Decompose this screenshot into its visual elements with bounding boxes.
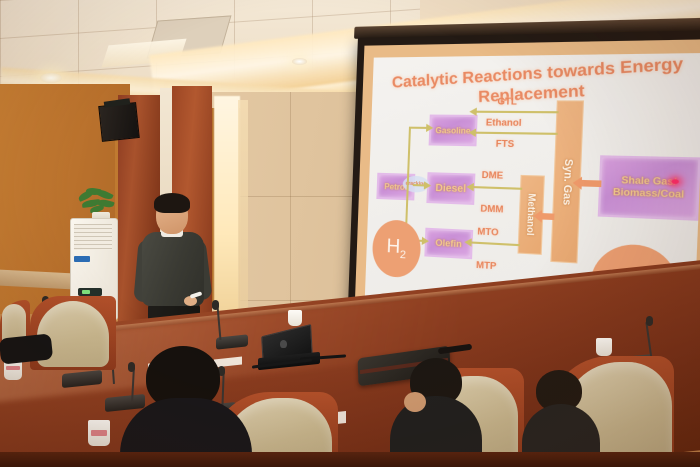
arrow-to-gasoline	[409, 127, 427, 129]
air-conditioner-badge	[74, 256, 90, 262]
audience-member-right	[396, 358, 486, 467]
label-dmm: DMM	[480, 203, 503, 214]
audience-hand	[404, 392, 426, 412]
table-foreground-edge	[0, 452, 700, 467]
downlight-icon	[40, 73, 62, 83]
conference-room-photo: Catalytic Reactions towards Energy Repla…	[0, 0, 700, 467]
arrow-mto	[471, 241, 520, 246]
hydrogen-formula: H2	[386, 236, 407, 260]
label-fts: FTS	[496, 138, 515, 149]
wall-speaker-icon	[98, 102, 140, 142]
arrow-to-diesel	[413, 184, 425, 186]
paper-cup	[596, 338, 612, 356]
label-mtp: MTP	[476, 260, 497, 272]
circle-hydrogen: H2	[372, 219, 422, 279]
air-conditioner-led-icon	[82, 290, 90, 294]
paper-cup	[288, 310, 302, 326]
label-mto: MTO	[477, 226, 499, 238]
label-ethanol: Ethanol	[486, 117, 522, 128]
arrow-syngas-to-methanol	[541, 213, 555, 220]
arrow-gtl	[476, 111, 559, 114]
downlight-icon	[292, 58, 307, 65]
jacket-on-table	[0, 333, 53, 364]
arrow-dme	[473, 186, 523, 190]
arrow-ethanol	[475, 132, 558, 135]
paper-cup-band	[91, 430, 107, 436]
microphone-head	[212, 300, 219, 310]
label-gtl: GTL	[497, 96, 517, 107]
box-feedstock: Shale Gas/ Biomass/Coal	[598, 155, 700, 221]
presenter-hair	[154, 193, 190, 213]
audience-member-front-left	[120, 346, 250, 467]
microphone-head	[646, 316, 653, 326]
paper-cup-band	[6, 366, 20, 370]
laptop-logo-icon	[280, 340, 287, 348]
air-conditioner-grill	[74, 224, 112, 250]
label-dme: DME	[482, 170, 504, 181]
arrow-feedstock-to-syngas	[581, 180, 602, 187]
